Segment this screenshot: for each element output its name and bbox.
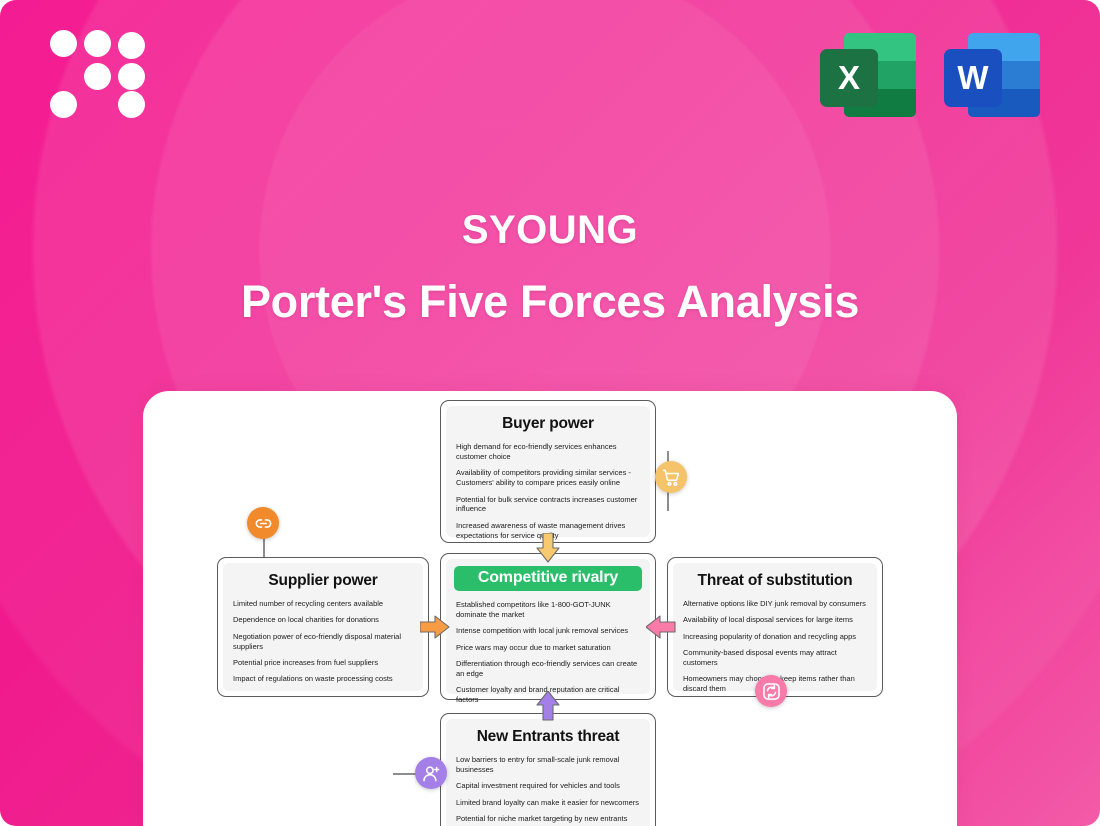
logo-dot — [118, 63, 145, 90]
force-box-rivalry-title: Competitive rivalry — [454, 566, 642, 591]
word-icon[interactable]: W — [944, 27, 1040, 123]
list-item: Low barriers to entry for small-scale ju… — [456, 755, 640, 775]
list-item: Increasing popularity of donation and re… — [683, 632, 867, 642]
list-item: Availability of local disposal services … — [683, 615, 867, 625]
add-user-icon[interactable] — [415, 757, 447, 789]
list-item: Availability of competitors providing si… — [456, 468, 640, 488]
force-box-entrants-list: Low barriers to entry for small-scale ju… — [456, 755, 640, 826]
list-item: Price wars may occur due to market satur… — [456, 643, 640, 653]
list-item: Established competitors like 1-800-GOT-J… — [456, 600, 640, 620]
force-box-supplier-list: Limited number of recycling centers avai… — [233, 599, 413, 684]
nine-dot-grid-logo — [50, 30, 146, 118]
list-item: High demand for eco-friendly services en… — [456, 442, 640, 462]
list-item: Alternative options like DIY junk remova… — [683, 599, 867, 609]
force-box-entrants-title: New Entrants threat — [456, 728, 640, 746]
force-box-entrants[interactable]: New Entrants threat Low barriers to entr… — [440, 713, 656, 826]
logo-dot — [50, 30, 77, 57]
page-title: Porter's Five Forces Analysis — [0, 276, 1100, 328]
link-chain-icon[interactable] — [247, 507, 279, 539]
list-item: Limited number of recycling centers avai… — [233, 599, 413, 609]
force-box-substitution-title: Threat of substitution — [683, 572, 867, 590]
document-card: Buyer power High demand for eco-friendly… — [143, 391, 957, 826]
list-item: Differentiation through eco-friendly ser… — [456, 659, 640, 679]
list-item: Limited brand loyalty can make it easier… — [456, 798, 640, 808]
force-box-buyer-title: Buyer power — [456, 415, 640, 433]
force-box-buyer[interactable]: Buyer power High demand for eco-friendly… — [440, 400, 656, 543]
brand-name: SYOUNG — [0, 208, 1100, 253]
list-item: Potential for bulk service contracts inc… — [456, 495, 640, 515]
force-box-supplier[interactable]: Supplier power Limited number of recycli… — [217, 557, 429, 697]
list-item: Potential for niche market targeting by … — [456, 814, 640, 824]
force-box-supplier-title: Supplier power — [233, 572, 413, 590]
logo-dot — [84, 63, 111, 90]
list-item: Intense competition with local junk remo… — [456, 626, 640, 636]
slide-canvas: X W SYOUNG Porter's Five Forces Analysis — [0, 0, 1100, 826]
list-item: Impact of regulations on waste processin… — [233, 674, 413, 684]
excel-icon-letter: X — [820, 49, 878, 107]
force-box-buyer-list: High demand for eco-friendly services en… — [456, 442, 640, 541]
logo-dot — [50, 91, 77, 118]
list-item: Potential price increases from fuel supp… — [233, 658, 413, 668]
list-item: Community-based disposal events may attr… — [683, 648, 867, 668]
logo-dot — [84, 30, 111, 57]
porters-five-forces-diagram: Buyer power High demand for eco-friendly… — [143, 391, 957, 826]
list-item: Dependence on local charities for donati… — [233, 615, 413, 625]
shopping-cart-icon[interactable] — [655, 461, 687, 493]
excel-icon[interactable]: X — [820, 27, 916, 123]
logo-dot — [118, 91, 145, 118]
word-icon-letter: W — [944, 49, 1002, 107]
list-item: Capital investment required for vehicles… — [456, 781, 640, 791]
logo-dot — [118, 32, 145, 59]
refresh-sync-icon[interactable] — [755, 675, 787, 707]
list-item: Negotiation power of eco-friendly dispos… — [233, 632, 413, 652]
force-box-rivalry-list: Established competitors like 1-800-GOT-J… — [456, 600, 640, 705]
force-box-rivalry[interactable]: Competitive rivalry Established competit… — [440, 553, 656, 700]
